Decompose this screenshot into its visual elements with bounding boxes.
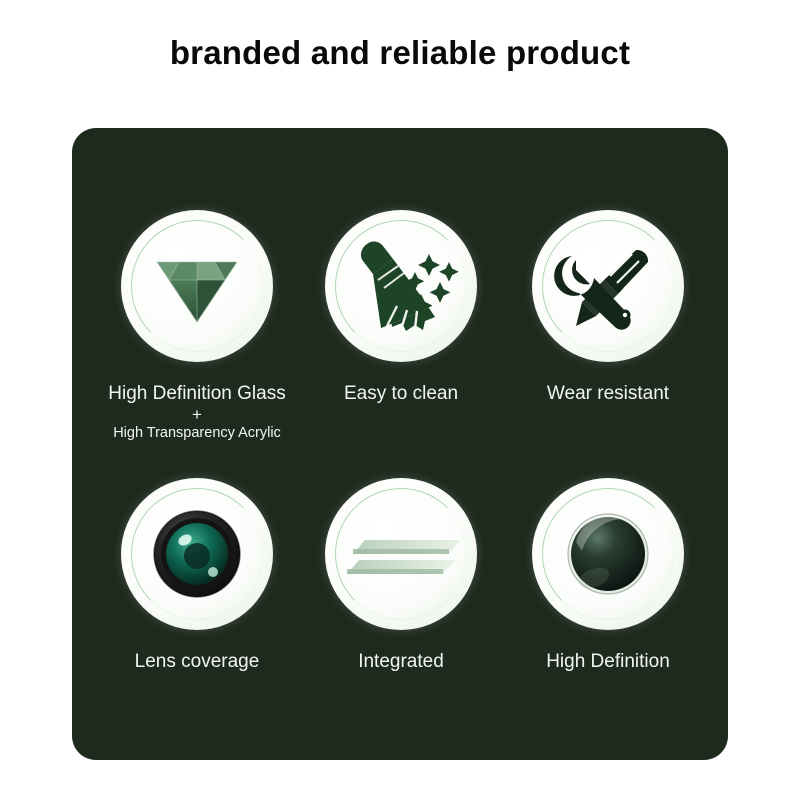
feature-item-integrated: Integrated xyxy=(298,478,504,674)
feature-icon-badge xyxy=(325,210,477,362)
feature-label-line1: High Definition Glass xyxy=(108,383,285,404)
feature-icon-badge xyxy=(325,478,477,630)
feature-panel: High Definition Glass + High Transparenc… xyxy=(72,128,728,760)
feature-grid: High Definition Glass + High Transparenc… xyxy=(72,128,728,760)
feature-label: High Definition xyxy=(505,650,711,674)
feature-label-line1: Wear resistant xyxy=(547,383,669,404)
feature-label-line3: High Transparency Acrylic xyxy=(94,424,300,442)
feature-label: High Definition Glass + High Transparenc… xyxy=(94,382,300,442)
page-title: branded and reliable product xyxy=(0,34,800,72)
feature-item-easy-to-clean: Easy to clean xyxy=(298,210,504,406)
feature-label: Wear resistant xyxy=(505,382,711,406)
feature-item-wear-resistant: Wear resistant xyxy=(505,210,711,406)
feature-item-high-definition-glass: High Definition Glass + High Transparenc… xyxy=(94,210,300,442)
feature-label: Lens coverage xyxy=(94,650,300,674)
feature-label-plus: + xyxy=(94,406,300,424)
feature-label-line1: Lens coverage xyxy=(135,651,260,672)
feature-label: Integrated xyxy=(298,650,504,674)
feature-icon-badge xyxy=(121,478,273,630)
feature-label-line1: High Definition xyxy=(546,651,670,672)
feature-label: Easy to clean xyxy=(298,382,504,406)
feature-label-line1: Easy to clean xyxy=(344,383,458,404)
feature-icon-badge xyxy=(121,210,273,362)
feature-item-lens-coverage: Lens coverage xyxy=(94,478,300,674)
feature-item-high-definition: High Definition xyxy=(505,478,711,674)
feature-label-line1: Integrated xyxy=(358,651,444,672)
feature-icon-badge xyxy=(532,478,684,630)
feature-icon-badge xyxy=(532,210,684,362)
